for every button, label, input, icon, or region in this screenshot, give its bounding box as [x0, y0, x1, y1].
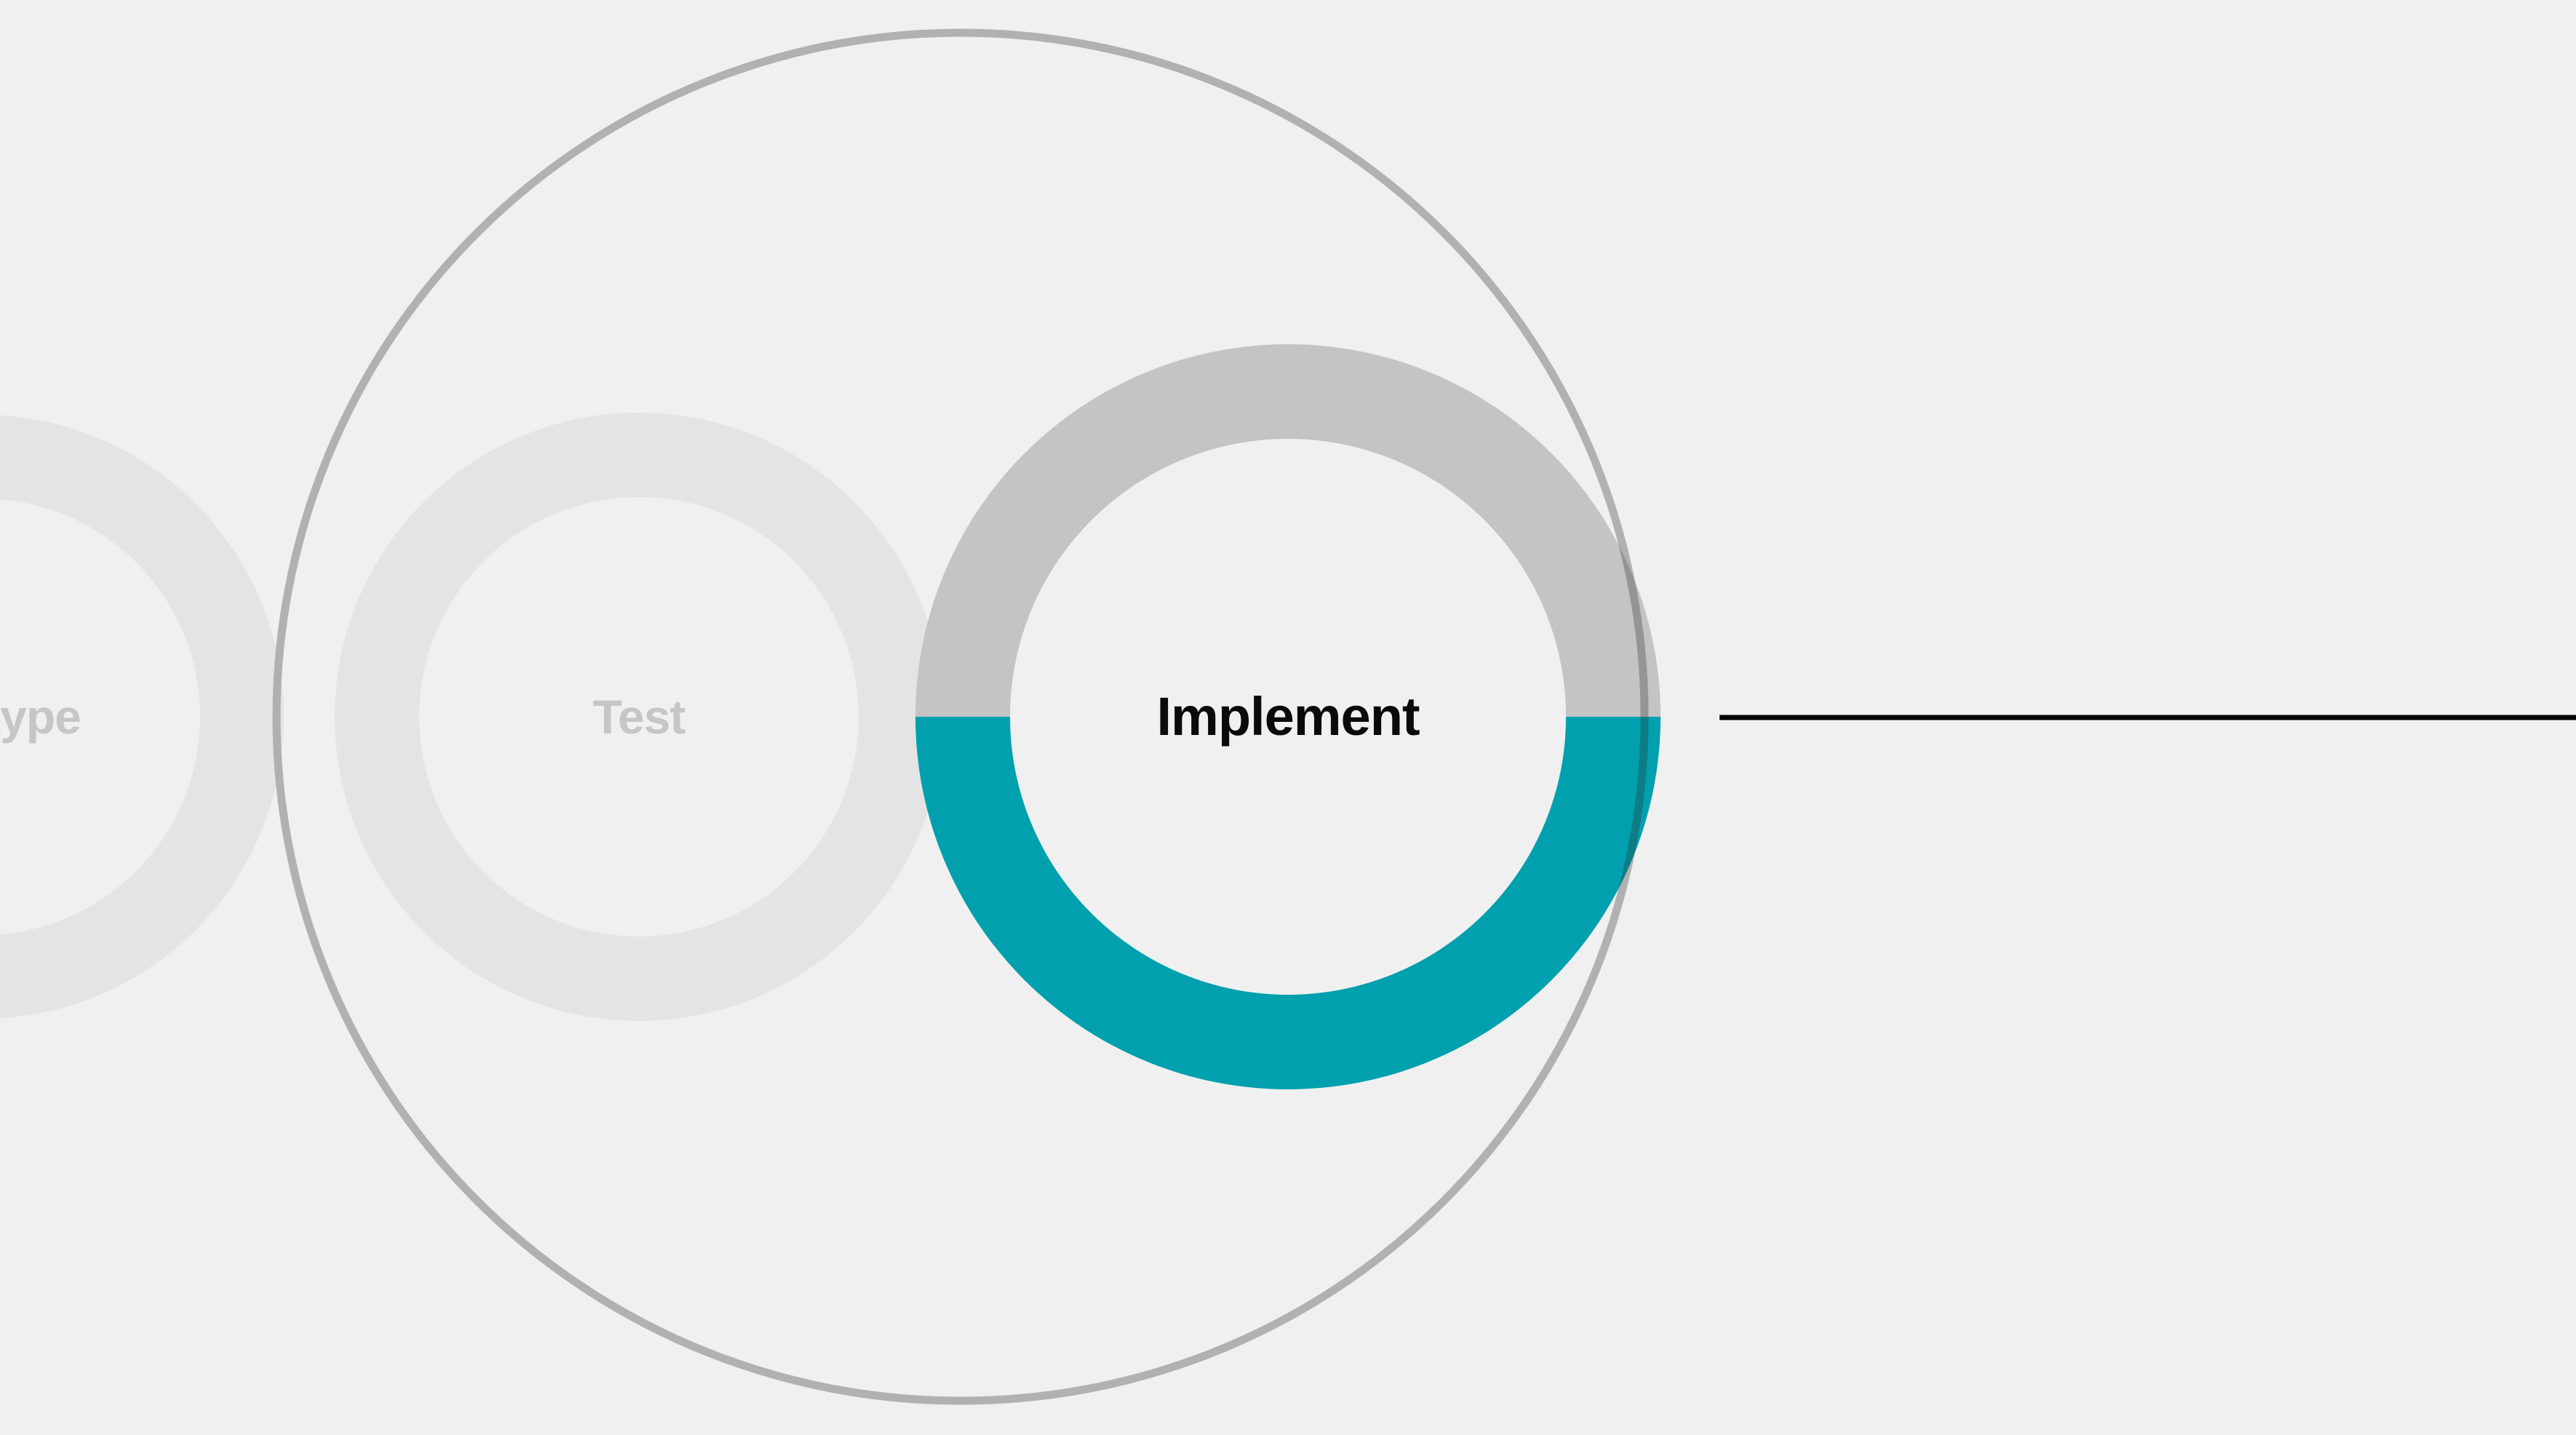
diagram-canvas: type Test Implement: [0, 0, 2576, 1435]
step-label-prototype: type: [0, 693, 81, 741]
step-label-implement: Implement: [1156, 690, 1419, 744]
step-label-test: Test: [593, 693, 685, 741]
